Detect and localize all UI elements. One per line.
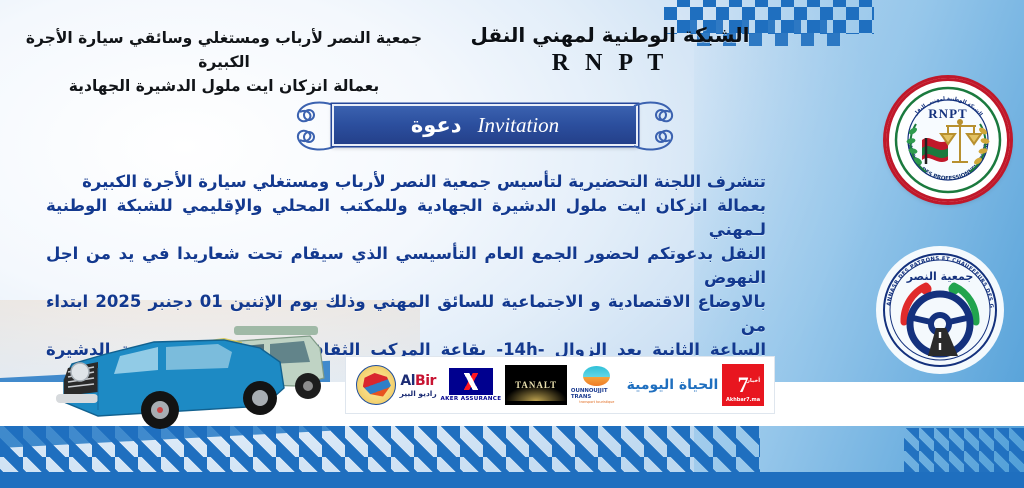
checkerboard-bottom-right [904, 428, 1024, 474]
sponsor-alhayat-logo[interactable]: الحياة اليومية [627, 377, 719, 393]
svg-text:RNPT: RNPT [928, 106, 967, 121]
sponsor-ounnoujjit-trans-logo[interactable]: OUNNOUJJIT TRANS transport touristique [571, 365, 623, 405]
ounnoujjit-label: OUNNOUJJIT TRANS [571, 388, 623, 400]
ounnoujjit-sublabel: transport touristique [579, 400, 614, 404]
sponsor-akhbar7-logo[interactable]: 7 أخبار Akhbar7.ma [722, 364, 764, 406]
invitation-ribbon: دعوة Invitation [290, 98, 680, 154]
blue-vintage-taxi [56, 338, 284, 429]
organization-abbreviation: R N P T [470, 50, 750, 77]
axa-mark-icon [449, 368, 493, 395]
organization-title: الشبكة الوطنية لمهني النقل [470, 24, 750, 47]
annasr-emblem-icon: ASSOCIATION ANNASR DES PATRONS ET CHAUFF… [876, 246, 1004, 374]
akhbar7-domain: Akhbar7.ma [726, 397, 760, 403]
svg-text:جمعية النصر: جمعية النصر [906, 270, 974, 283]
albir-prefix: Al [400, 373, 415, 389]
akhbar7-arabic-label: أخبار [747, 378, 760, 384]
ounnoujjit-mark-icon [583, 366, 610, 386]
body-line-3: النقل بدعوتكم لحضور الجمع العام التأسيسي… [46, 242, 766, 289]
tanalt-label: TANALT [515, 380, 557, 390]
rnpt-logo: الشبكة الوطنية لمهنيي النقل RESEAU NATIO… [886, 78, 1010, 202]
ribbon-flourish-right-icon [626, 98, 682, 154]
rnpt-emblem-icon: الشبكة الوطنية لمهنيي النقل RESEAU NATIO… [886, 78, 1010, 202]
albir-arabic-label: راديو البير [400, 389, 437, 398]
bottom-blue-band [0, 472, 1024, 488]
albir-suffix: Bir [415, 373, 436, 389]
association-name-line2: بعمالة انزكان ايت ملول الدشيرة الجهادية [24, 74, 424, 98]
sponsor-strip: AlBir راديو البير AKER ASSURANCE TANALT … [345, 356, 775, 414]
ribbon-plate: دعوة Invitation [332, 104, 638, 146]
sponsor-axa-aker-logo[interactable]: AKER ASSURANCE [440, 368, 501, 402]
alhayat-label: الحياة اليومية [627, 377, 719, 393]
ribbon-label-arabic: دعوة [411, 113, 462, 137]
ribbon-label-english: Invitation [478, 113, 560, 138]
body-line-1: تتشرف اللجنة التحضيرية لتأسيس جمعية النص… [46, 170, 766, 193]
association-name-line1: جمعية النصر لأرباب ومستغلي وسائقي سيارة … [24, 26, 424, 74]
axa-caption: AKER ASSURANCE [440, 396, 501, 402]
sponsor-albir-radio-logo[interactable]: AlBir راديو البير [400, 373, 437, 398]
invitation-poster: جمعية النصر لأرباب ومستغلي وسائقي سيارة … [0, 0, 1024, 488]
body-line-2: بعمالة انزكان ايت ملول الدشيرة الجهادية … [46, 194, 766, 241]
association-name: جمعية النصر لأرباب ومستغلي وسائقي سيارة … [24, 26, 424, 98]
sponsor-morocco-map-logo[interactable] [356, 365, 396, 405]
taxi-cars-image [28, 314, 338, 444]
annasr-association-logo: ASSOCIATION ANNASR DES PATRONS ET CHAUFF… [876, 246, 1004, 374]
sponsor-tanalt-logo[interactable]: TANALT [505, 365, 567, 405]
